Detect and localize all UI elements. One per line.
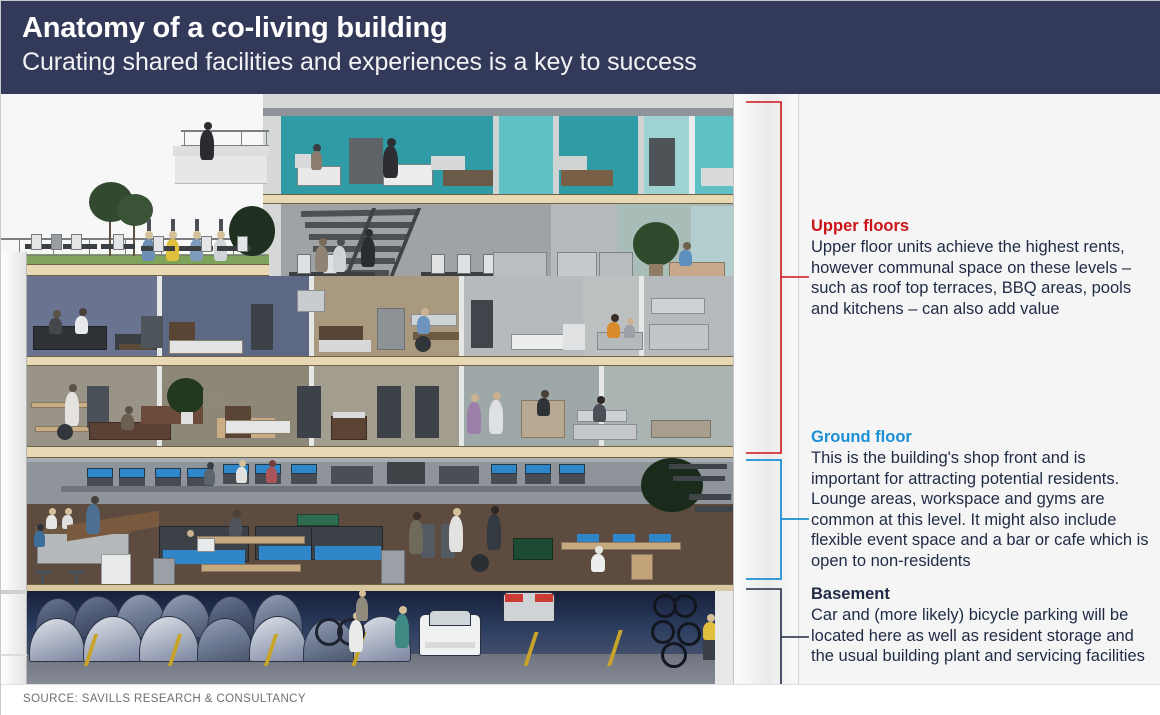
laptop — [197, 538, 215, 552]
bed — [225, 420, 291, 434]
desk-blue — [491, 464, 517, 474]
person-figure — [487, 514, 501, 550]
bicycle-wheel — [677, 622, 701, 646]
office-chair — [57, 424, 73, 440]
person-head — [707, 614, 715, 622]
partition — [493, 116, 499, 194]
person-figure — [361, 237, 375, 267]
person-head — [49, 508, 56, 515]
monitor-blue — [577, 534, 599, 542]
page-subtitle: Curating shared facilities and experienc… — [22, 46, 1160, 79]
railing-post — [184, 131, 185, 146]
person-head — [79, 308, 87, 316]
sofa-light — [597, 332, 643, 350]
balcony-underside — [175, 156, 267, 184]
headboard — [557, 156, 587, 170]
mezzanine-edge — [61, 486, 701, 492]
indoor-plant — [167, 378, 205, 414]
infographic-page: Anatomy of a co-living building Curating… — [0, 0, 1160, 715]
sofa-cushion-blue — [163, 550, 245, 564]
dresser-top — [333, 412, 365, 418]
person-head — [53, 310, 61, 318]
stair-tread — [689, 494, 731, 500]
partition — [553, 116, 559, 194]
person-figure — [49, 318, 62, 334]
long-desk — [31, 402, 89, 408]
car-taillight — [535, 594, 553, 602]
person-figure — [349, 620, 363, 652]
building-core-shaft — [1, 252, 27, 684]
basement-end-wall — [715, 591, 733, 684]
building-end-wall — [733, 94, 771, 684]
person-head — [319, 238, 327, 246]
source-attribution: SOURCE: SAVILLS RESEARCH & CONSULTANCY — [23, 693, 306, 705]
gym-equipment — [387, 462, 425, 484]
header-banner: Anatomy of a co-living building Curating… — [1, 1, 1160, 94]
person-walking — [86, 504, 100, 534]
person-head — [169, 231, 177, 239]
desk — [443, 170, 493, 186]
person-head — [37, 524, 44, 531]
person-figure — [607, 322, 620, 338]
terrace-chair — [153, 236, 164, 252]
shelf — [203, 390, 225, 408]
roof-slab — [263, 108, 733, 116]
terrace-chair — [201, 236, 212, 252]
chair — [431, 254, 445, 274]
work-bench — [561, 542, 681, 550]
green-panel — [513, 538, 553, 560]
bed — [169, 340, 243, 354]
person-head — [65, 508, 72, 515]
person-seated — [591, 554, 605, 572]
person-head-child — [627, 318, 634, 325]
bicycle-wheel — [661, 642, 687, 668]
person-figure — [204, 469, 215, 485]
person-head — [683, 242, 691, 250]
panel-divider-strip — [771, 94, 799, 684]
shelving — [631, 554, 653, 580]
person-head — [595, 546, 603, 554]
kitchen-counter — [649, 324, 709, 350]
person-figure — [315, 246, 328, 272]
person-head — [597, 396, 605, 404]
indoor-plant — [633, 222, 679, 266]
balcony-railing — [181, 130, 269, 146]
person-figure — [236, 467, 247, 483]
person-figure — [46, 515, 57, 529]
terrace-chair — [51, 234, 62, 250]
callout-body-ground: This is the building's shop front and is… — [811, 448, 1156, 571]
pool-table — [297, 514, 339, 526]
sofa-light — [573, 424, 637, 440]
person-figure — [537, 398, 550, 416]
door — [251, 304, 273, 350]
person-head — [91, 496, 99, 504]
partition — [309, 276, 314, 356]
chair — [457, 254, 471, 274]
person-figure — [467, 402, 481, 434]
overhead-cupboard — [651, 298, 705, 314]
door — [297, 386, 321, 438]
person-figure-child — [624, 325, 635, 338]
pillow-stack — [563, 324, 585, 350]
person-figure — [34, 531, 45, 547]
sofa-arm — [381, 550, 405, 584]
desk-base — [559, 474, 585, 484]
page-title: Anatomy of a co-living building — [22, 10, 1160, 46]
person-head — [269, 460, 276, 467]
stair-tread — [695, 506, 733, 512]
desk-blue — [559, 464, 585, 474]
sofa — [651, 420, 711, 438]
office-chair — [415, 336, 431, 352]
person-head — [541, 390, 549, 398]
pillow — [295, 154, 311, 168]
railing-post — [266, 131, 267, 146]
ceiling-line — [27, 458, 733, 462]
person-head — [365, 229, 373, 237]
callout-upper-floors: Upper floors Upper floor units achieve t… — [811, 216, 1156, 319]
gym-rig — [673, 476, 725, 481]
ground-line-left-2 — [1, 654, 27, 656]
person-head — [359, 590, 366, 597]
person-head — [611, 314, 619, 322]
person-figure — [266, 467, 277, 483]
sofa-cushion-blue — [315, 546, 381, 560]
top-floor-room-teal-light — [496, 116, 556, 194]
person-head — [239, 460, 246, 467]
door — [415, 386, 439, 438]
person-head — [493, 392, 501, 400]
person-figure — [356, 597, 368, 621]
desk-base — [87, 478, 113, 486]
partition — [459, 276, 464, 356]
desk-base — [491, 474, 517, 484]
car-windscreen — [429, 610, 471, 626]
person-figure — [200, 130, 214, 160]
person-figure — [489, 400, 503, 434]
person-figure — [75, 316, 88, 334]
terrace-chair — [31, 234, 42, 250]
car-taillight — [505, 594, 523, 602]
desk-base — [119, 478, 145, 486]
person-head — [69, 384, 77, 392]
annotations-panel: Upper floors Upper floor units achieve t… — [771, 94, 1160, 684]
person-head — [145, 231, 153, 239]
yoga-arms — [147, 219, 151, 231]
partition — [459, 366, 464, 446]
balcony-slab — [173, 146, 269, 156]
roof-parapet — [263, 94, 733, 108]
person-head — [187, 530, 194, 537]
terrace-chair — [113, 234, 124, 250]
door — [471, 300, 493, 348]
callout-ground-floor: Ground floor This is the building's shop… — [811, 427, 1156, 571]
terrace-chair — [237, 236, 248, 252]
bed-low — [319, 340, 371, 352]
person-figure — [311, 151, 322, 170]
furniture — [701, 168, 733, 186]
ground-line-left — [1, 590, 27, 594]
person-figure — [449, 516, 463, 552]
floor-slab — [263, 194, 733, 204]
person-head — [125, 406, 133, 414]
floor-slab — [27, 446, 733, 458]
dresser — [331, 416, 367, 440]
terrace-slab — [1, 264, 269, 276]
desk-base — [155, 478, 181, 486]
bicycle-wheel — [651, 620, 675, 644]
chair — [297, 254, 311, 274]
person-head — [399, 606, 407, 614]
monitor-blue — [613, 534, 635, 542]
person-head — [217, 231, 225, 239]
desk-base — [525, 474, 551, 484]
person-standing — [65, 392, 79, 426]
callout-heading-upper: Upper floors — [811, 216, 1156, 236]
gym-equipment — [439, 466, 479, 484]
desk-blue — [525, 464, 551, 474]
yoga-arms — [195, 219, 199, 231]
footer-divider — [1, 684, 1160, 685]
desk-blue — [119, 468, 145, 478]
cabinet — [377, 308, 405, 350]
callout-heading-basement: Basement — [811, 584, 1156, 604]
office-chair — [471, 554, 489, 572]
armchair — [141, 316, 163, 348]
bed — [511, 334, 569, 350]
sofa-dark — [33, 326, 107, 350]
floor-slab — [27, 356, 733, 366]
sofa-cushion-blue — [259, 546, 315, 560]
desk-blue — [291, 464, 317, 474]
shelf — [431, 156, 465, 170]
person-head — [337, 238, 345, 246]
partition — [689, 116, 695, 194]
person-head — [193, 231, 201, 239]
desk-blue — [155, 468, 181, 478]
gym-machine — [421, 524, 435, 558]
desk-base — [291, 474, 317, 484]
person-figure — [417, 316, 430, 334]
person-seated — [121, 414, 134, 430]
wardrobe — [349, 138, 383, 184]
person-head — [233, 510, 241, 518]
person-figure — [593, 404, 606, 422]
terrace-chair — [71, 234, 82, 250]
callout-body-upper: Upper floor units achieve the highest re… — [811, 237, 1156, 319]
callout-body-basement: Car and (more likely) bicycle parking wi… — [811, 605, 1156, 667]
gym-rig — [669, 464, 727, 469]
building-cross-section-illustration — [1, 94, 796, 684]
yoga-arms — [219, 219, 223, 231]
person-seated — [229, 518, 242, 536]
bed-frame — [561, 170, 613, 186]
door — [649, 138, 675, 186]
yoga-arms — [171, 219, 175, 231]
person-head — [204, 122, 212, 130]
person-figure — [383, 146, 398, 178]
person-head — [413, 512, 421, 520]
person-figure — [395, 614, 409, 648]
plant-pot — [181, 412, 193, 424]
callout-heading-ground: Ground floor — [811, 427, 1156, 447]
partition — [638, 116, 644, 194]
person-figure — [409, 520, 423, 554]
gym-equipment — [331, 466, 373, 484]
low-table — [201, 564, 301, 572]
person-figure — [679, 250, 692, 266]
stair-tread — [305, 222, 413, 228]
person-head — [207, 462, 214, 469]
person-head — [453, 508, 461, 516]
car-bumper — [425, 642, 475, 648]
callout-basement: Basement Car and (more likely) bicycle p… — [811, 584, 1156, 667]
window-frame — [297, 290, 325, 312]
railing-post — [241, 131, 242, 146]
bicycle-wheel — [673, 594, 697, 618]
person-figure — [333, 246, 346, 272]
person-head — [421, 308, 429, 316]
person-head — [491, 506, 499, 514]
shelf-unit — [319, 326, 363, 340]
door — [377, 386, 401, 438]
person-head — [471, 394, 479, 402]
desk-blue — [87, 468, 113, 478]
monitor-blue — [649, 534, 671, 542]
